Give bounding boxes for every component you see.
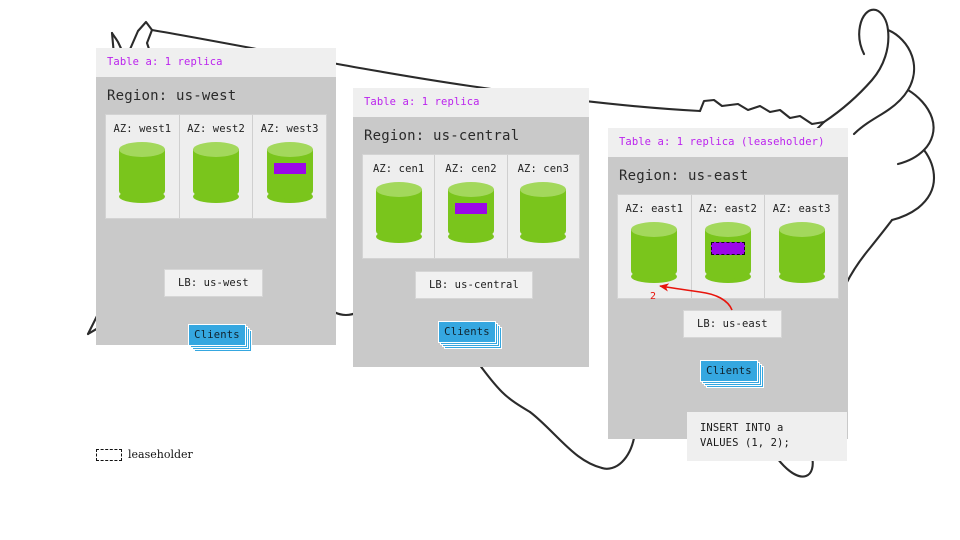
cylinder-top (267, 142, 313, 157)
replica-chip-west3 (274, 163, 306, 174)
region-title-us-east: Region: us-east (617, 157, 839, 194)
db-node-cen2[interactable] (448, 182, 494, 246)
az-cell-east2[interactable]: AZ: east2 (692, 195, 766, 298)
replica-chip-cen2 (455, 203, 487, 214)
legend: leaseholder (96, 448, 193, 461)
dashed-rectangle-icon (96, 449, 122, 461)
load-balancer-us-east[interactable]: LB: us-east (683, 310, 782, 338)
az-label-cen2: AZ: cen2 (445, 163, 496, 175)
legend-label-leaseholder: leaseholder (128, 448, 193, 461)
az-row-us-west: AZ: west1 AZ: west2 (105, 114, 327, 219)
load-balancer-us-central[interactable]: LB: us-central (415, 271, 533, 299)
db-node-cen1[interactable] (376, 182, 422, 246)
sql-statement-note: INSERT INTO a VALUES (1, 2); (687, 412, 847, 461)
az-cell-cen2[interactable]: AZ: cen2 (435, 155, 507, 258)
leaseholder-chip-east2 (711, 242, 745, 255)
region-panel-us-central: Table a: 1 replica Region: us-central AZ… (353, 88, 589, 367)
cylinder-top (119, 142, 165, 157)
az-label-east3: AZ: east3 (773, 203, 831, 215)
load-balancer-us-west[interactable]: LB: us-west (164, 269, 263, 297)
az-row-us-central: AZ: cen1 AZ: cen2 (362, 154, 580, 259)
az-label-cen3: AZ: cen3 (518, 163, 569, 175)
az-cell-cen3[interactable]: AZ: cen3 (508, 155, 579, 258)
az-label-west3: AZ: west3 (261, 123, 319, 135)
region-title-us-central: Region: us-central (362, 117, 580, 154)
diagram-canvas: Table a: 1 replica Region: us-west AZ: w… (0, 0, 960, 540)
clients-label-us-east[interactable]: Clients (700, 360, 758, 382)
region-body-us-east: Region: us-east AZ: east1 AZ: east2 (608, 157, 848, 439)
clients-stack-us-east[interactable]: Clients (700, 360, 764, 384)
db-node-cen3[interactable] (520, 182, 566, 246)
replica-banner-us-east: Table a: 1 replica (leaseholder) (608, 128, 848, 157)
cylinder-top (520, 182, 566, 197)
az-cell-west1[interactable]: AZ: west1 (106, 115, 180, 218)
clients-label-us-central[interactable]: Clients (438, 321, 496, 343)
region-title-us-west: Region: us-west (105, 77, 327, 114)
cylinder-top (448, 182, 494, 197)
cylinder-top (376, 182, 422, 197)
arrow-step-label: 2 (650, 291, 656, 302)
az-label-east1: AZ: east1 (625, 203, 683, 215)
db-node-west2[interactable] (193, 142, 239, 206)
replica-banner-us-west: Table a: 1 replica (96, 48, 336, 77)
az-cell-west2[interactable]: AZ: west2 (180, 115, 254, 218)
clients-label-us-west[interactable]: Clients (188, 324, 246, 346)
az-row-us-east: AZ: east1 AZ: east2 (617, 194, 839, 299)
clients-stack-us-central[interactable]: Clients (438, 321, 502, 345)
db-node-west1[interactable] (119, 142, 165, 206)
region-body-us-west: Region: us-west AZ: west1 AZ: west2 (96, 77, 336, 345)
az-cell-east3[interactable]: AZ: east3 (765, 195, 838, 298)
replica-banner-us-central: Table a: 1 replica (353, 88, 589, 117)
region-panel-us-west: Table a: 1 replica Region: us-west AZ: w… (96, 48, 336, 345)
db-node-east2[interactable] (705, 222, 751, 286)
az-cell-east1[interactable]: AZ: east1 (618, 195, 692, 298)
az-cell-west3[interactable]: AZ: west3 (253, 115, 326, 218)
az-cell-cen1[interactable]: AZ: cen1 (363, 155, 435, 258)
db-node-east1[interactable] (631, 222, 677, 286)
cylinder-top (193, 142, 239, 157)
cylinder-top (631, 222, 677, 237)
az-label-cen1: AZ: cen1 (373, 163, 424, 175)
az-label-west2: AZ: west2 (187, 123, 245, 135)
cylinder-top (705, 222, 751, 237)
db-node-east3[interactable] (779, 222, 825, 286)
az-label-east2: AZ: east2 (699, 203, 757, 215)
region-panel-us-east: Table a: 1 replica (leaseholder) Region:… (608, 128, 848, 439)
cylinder-top (779, 222, 825, 237)
db-node-west3[interactable] (267, 142, 313, 206)
az-label-west1: AZ: west1 (113, 123, 171, 135)
clients-stack-us-west[interactable]: Clients (188, 324, 252, 348)
